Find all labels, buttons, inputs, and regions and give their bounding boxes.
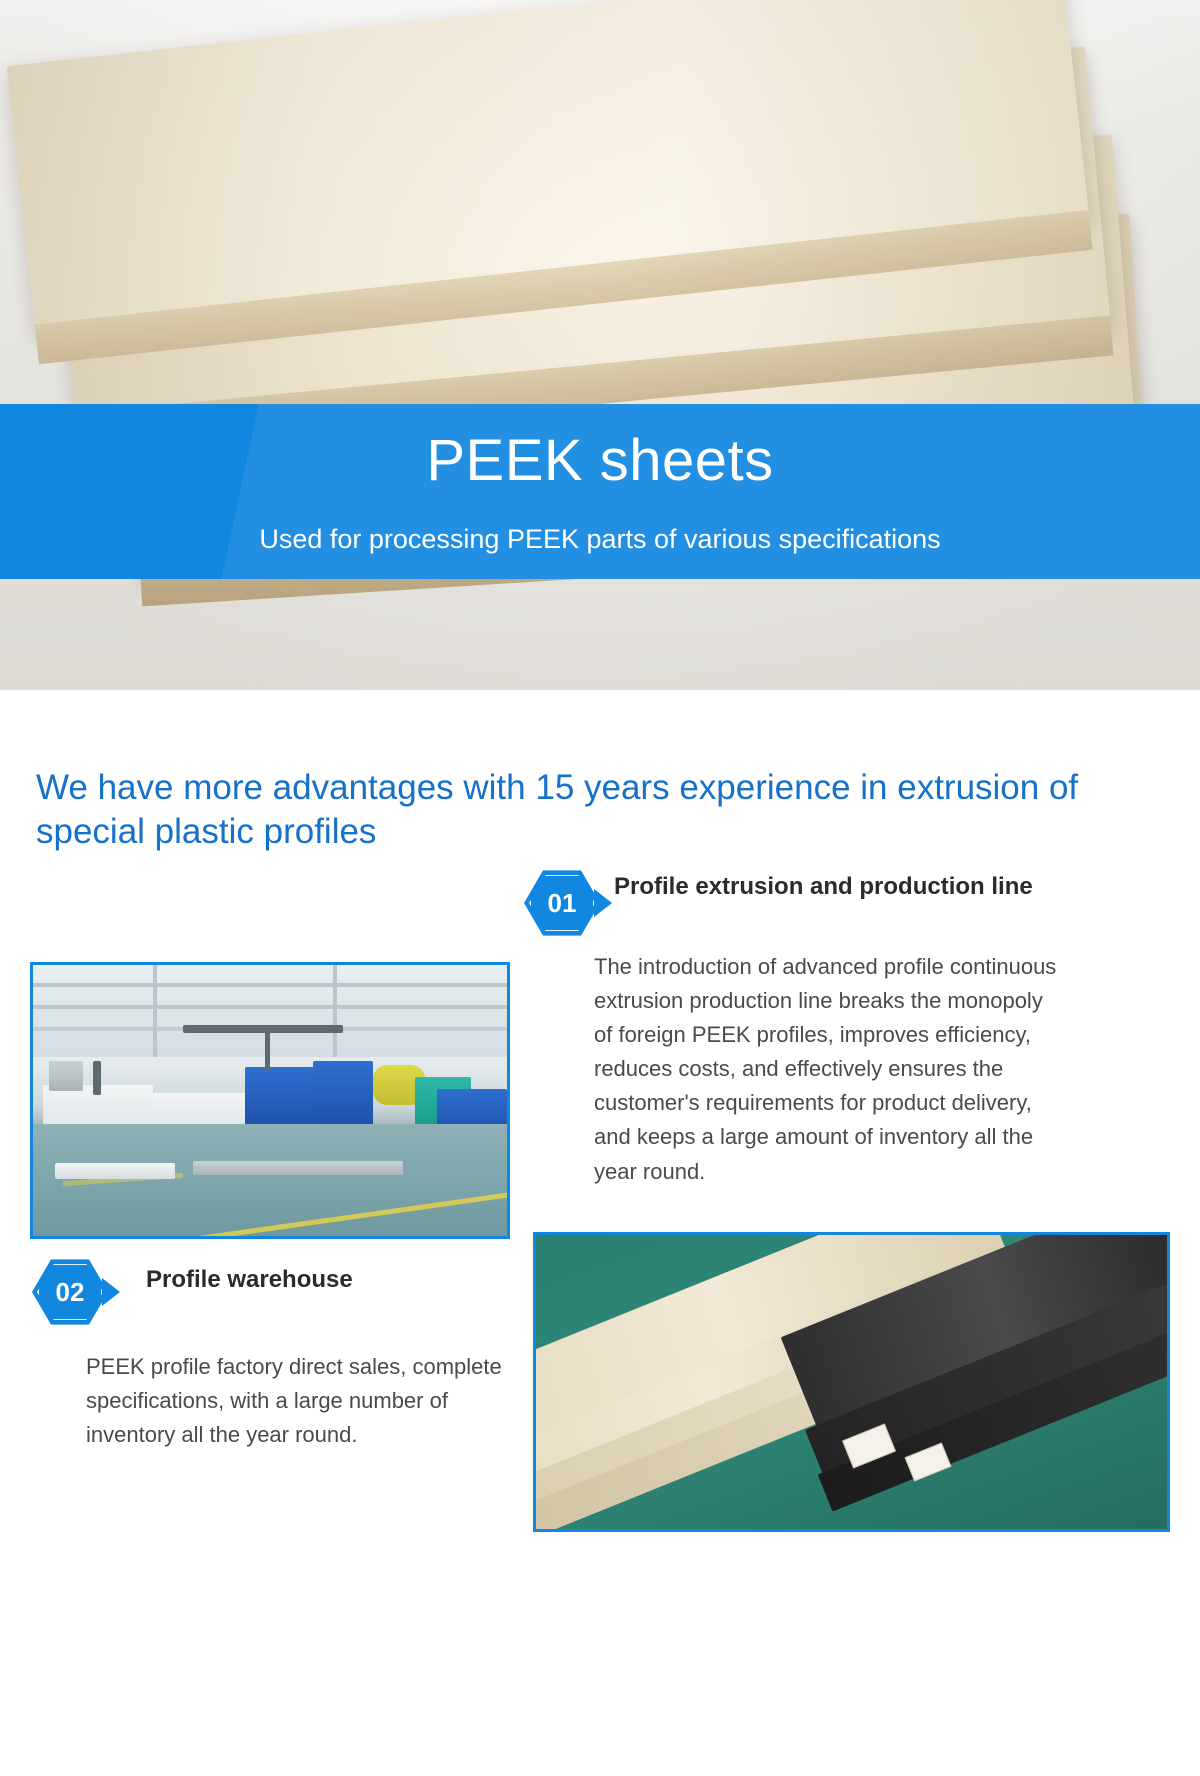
badge-01: 01 (524, 869, 600, 937)
block-02-body: PEEK profile factory direct sales, compl… (86, 1350, 526, 1452)
block-02-title: Profile warehouse (146, 1264, 526, 1296)
badge-02-pointer (102, 1278, 120, 1306)
peek-sheets-stack-image (536, 1235, 1167, 1529)
hero-photo (0, 0, 1200, 690)
factory-interior-image (33, 965, 507, 1236)
section-headline: We have more advantages with 15 years ex… (36, 766, 1176, 854)
hero-title: PEEK sheets (0, 430, 1200, 493)
product-detail-page: PEEK sheets Used for processing PEEK par… (0, 0, 1200, 1776)
block-01-body: The introduction of advanced profile con… (594, 950, 1064, 1189)
block-01-title: Profile extrusion and production line (614, 871, 1074, 903)
badge-02: 02 (32, 1258, 108, 1326)
badge-01-pointer (594, 889, 612, 917)
badge-02-number: 02 (37, 1263, 103, 1321)
warehouse-photo (533, 1232, 1170, 1532)
hero-subtitle: Used for processing PEEK parts of variou… (0, 524, 1200, 555)
badge-01-number: 01 (529, 874, 595, 932)
hero-vignette (0, 0, 1200, 690)
production-line-photo (30, 962, 510, 1239)
hero-banner: PEEK sheets Used for processing PEEK par… (0, 0, 1200, 690)
